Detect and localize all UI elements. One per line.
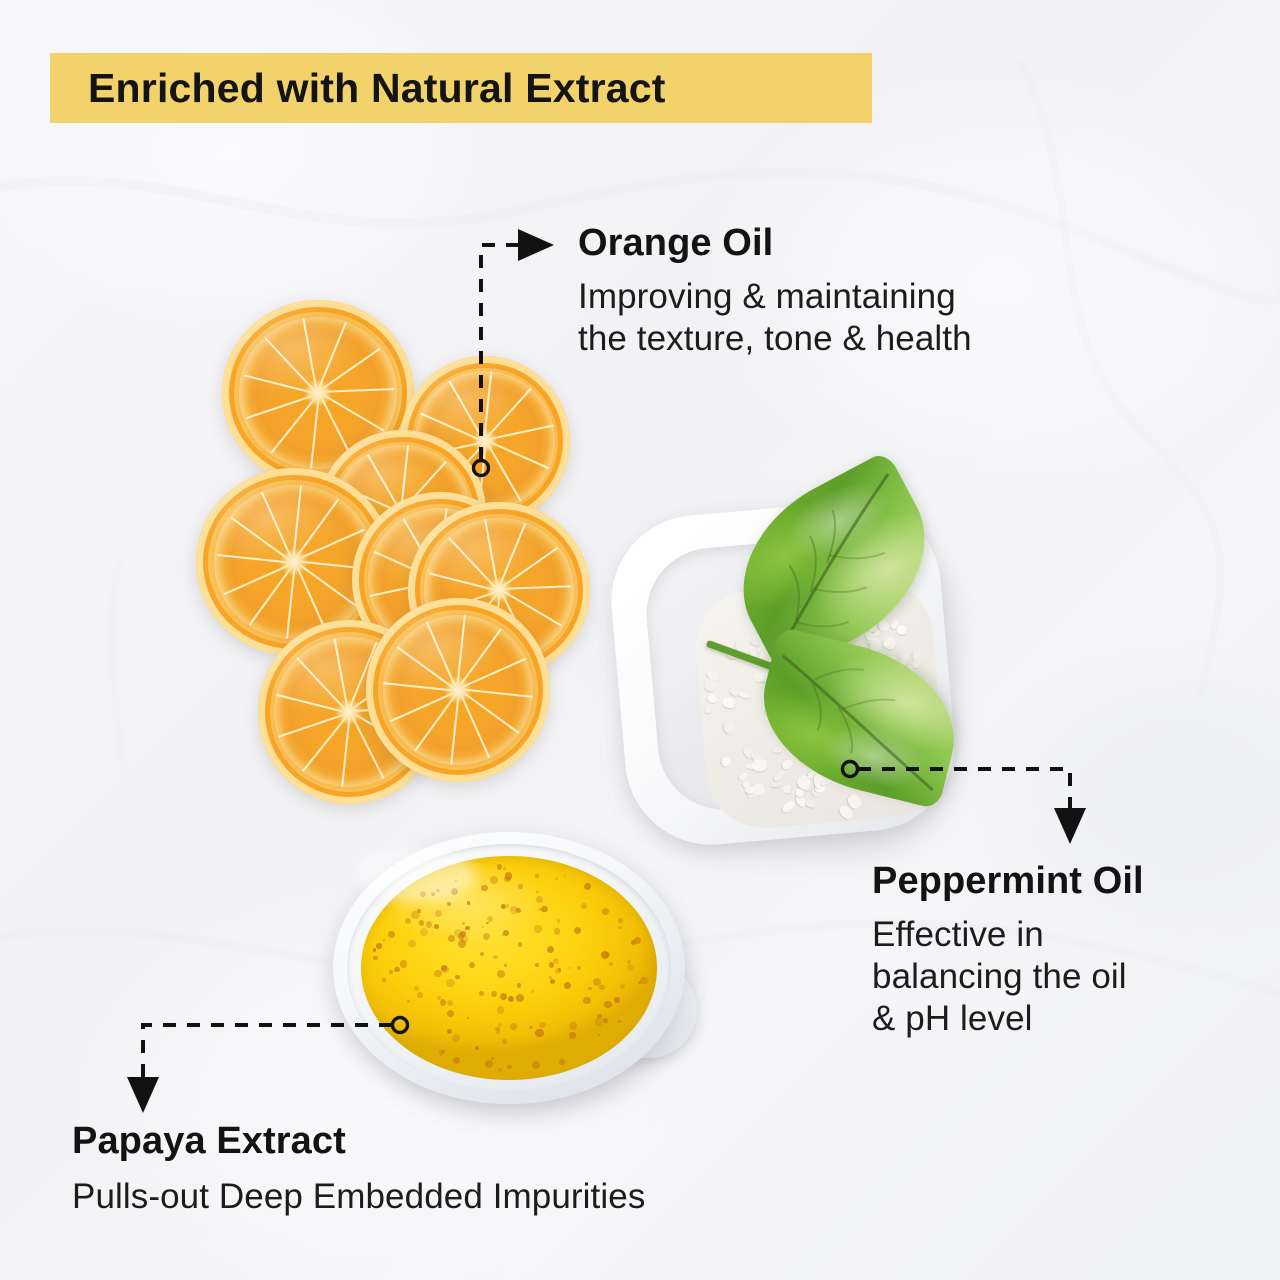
callout-title-orange-oil: Orange Oil	[578, 224, 972, 264]
callout-orange-oil: Orange Oil Improving & maintaining the t…	[578, 224, 972, 360]
mug-gloss	[357, 848, 477, 902]
callout-papaya-extract: Papaya Extract Pulls-out Deep Embedded I…	[72, 1122, 645, 1218]
callout-description-papaya-extract: Pulls-out Deep Embedded Impurities	[72, 1176, 645, 1218]
desc-line: & pH level	[872, 998, 1144, 1040]
desc-line: Pulls-out Deep Embedded Impurities	[72, 1176, 645, 1218]
desc-line: balancing the oil	[872, 956, 1144, 998]
callout-description-peppermint-oil: Effective in balancing the oil & pH leve…	[872, 914, 1144, 1040]
desc-line: Improving & maintaining	[578, 276, 972, 318]
callout-title-papaya-extract: Papaya Extract	[72, 1122, 645, 1162]
salt-bowl-group	[618, 508, 962, 858]
header-banner: Enriched with Natural Extract	[50, 53, 872, 123]
callout-peppermint-oil: Peppermint Oil Effective in balancing th…	[872, 862, 1144, 1040]
turmeric-mug-group	[333, 832, 715, 1110]
banner-title: Enriched with Natural Extract	[88, 68, 666, 109]
desc-line: Effective in	[872, 914, 1144, 956]
orange-slice	[366, 598, 550, 782]
infographic-canvas: Enriched with Natural Extract	[0, 0, 1280, 1280]
desc-line: the texture, tone & health	[578, 318, 972, 360]
callout-title-peppermint-oil: Peppermint Oil	[872, 862, 1144, 902]
callout-description-orange-oil: Improving & maintaining the texture, ton…	[578, 276, 972, 360]
